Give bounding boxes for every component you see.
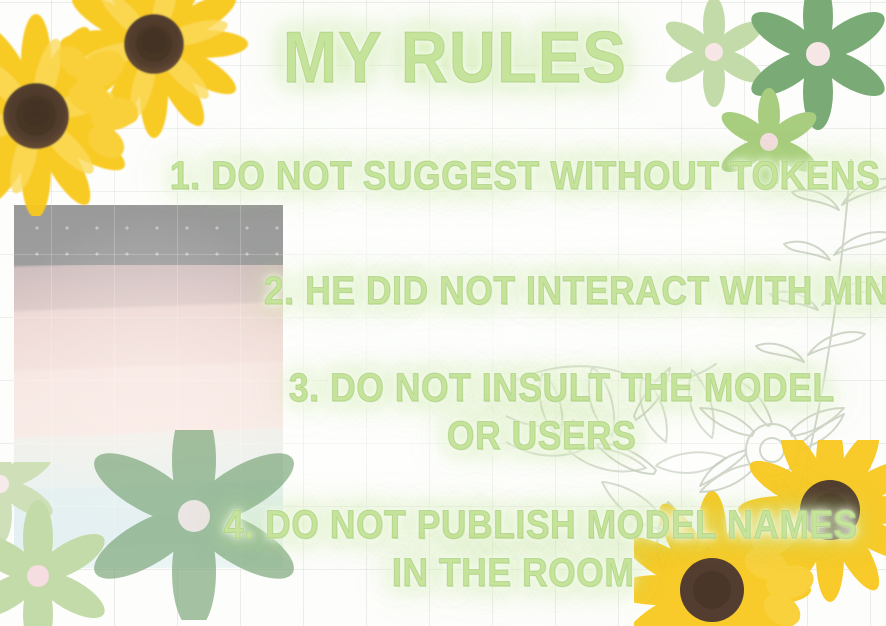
rule-item-1: 1. DO NOT SUGGEST WITHOUT TOKENS — [170, 155, 880, 197]
rule-item-4-line2: IN THE ROOM — [392, 552, 634, 594]
rule-item-2: 2. HE DID NOT INTERACT WITH MINORS — [264, 270, 886, 312]
page-title: MY RULES — [283, 22, 627, 94]
rule-item-3: 3. DO NOT INSULT THE MODEL — [289, 367, 835, 409]
rule-item-4: 4. DO NOT PUBLISH MODEL NAMES — [224, 504, 858, 546]
rules-banner: MY RULES 1. DO NOT SUGGEST WITHOUT TOKEN… — [0, 0, 886, 626]
text-layer: MY RULES 1. DO NOT SUGGEST WITHOUT TOKEN… — [0, 0, 886, 626]
rule-item-3-line2: OR USERS — [447, 415, 636, 457]
